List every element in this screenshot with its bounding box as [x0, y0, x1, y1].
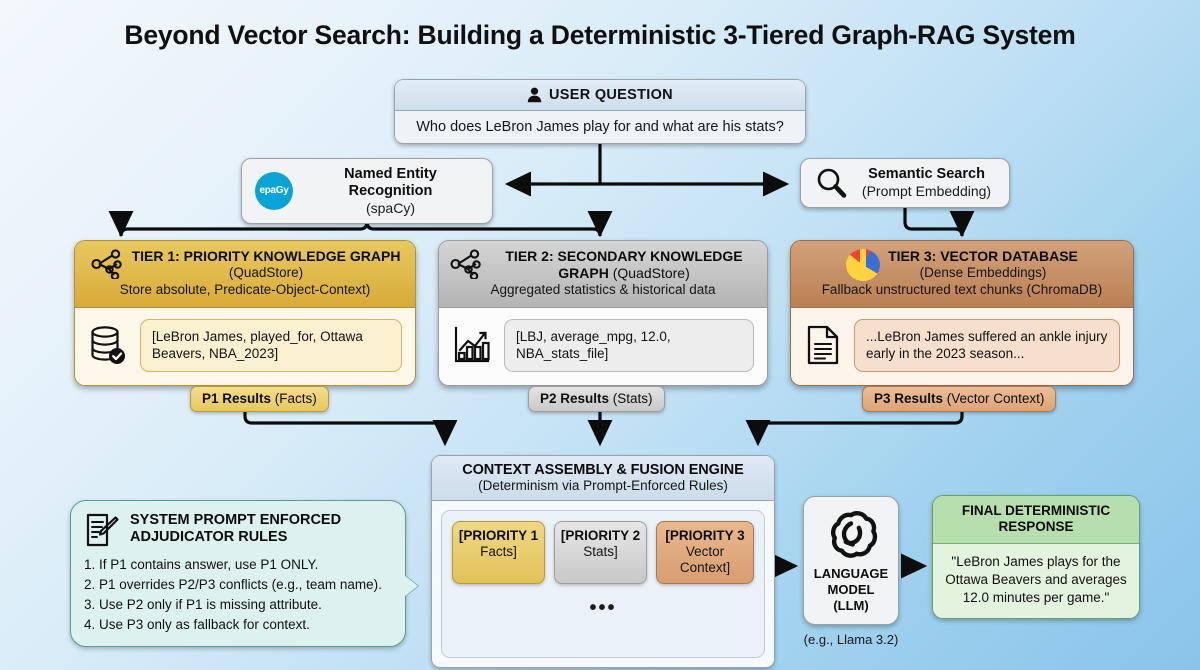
semantic-search-title: Semantic Search [857, 166, 996, 183]
p1-results-badge: P1 Results (Facts) [190, 386, 329, 412]
fusion-priority-stack: [PRIORITY 1 Facts] [PRIORITY 2 Stats] [P… [441, 510, 765, 658]
p2-badge-bold: P2 Results [540, 391, 609, 406]
tier-1-head-line2: (QuadStore) [132, 265, 401, 281]
tier-3-card: TIER 3: VECTOR DATABASE (Dense Embedding… [790, 240, 1134, 386]
adjudicator-rule: 3. Use P2 only if P1 is missing attribut… [84, 595, 392, 615]
database-check-icon [88, 324, 128, 366]
fusion-engine-subtitle: (Determinism via Prompt-Enforced Rules) [440, 478, 766, 493]
user-question-text: Who does LeBron James play for and what … [395, 111, 805, 143]
priority-2-line1: [PRIORITY 2 [559, 528, 642, 544]
document-lines-icon [804, 324, 842, 366]
adjudicator-rule: 2. P1 overrides P2/P3 conflicts (e.g., t… [84, 575, 392, 595]
adjudicator-header-line2: ADJUDICATOR RULES [130, 529, 341, 546]
graph-nodes-icon [90, 249, 124, 279]
p1-badge-bold: P1 Results [202, 391, 271, 406]
tier-3-chip: ...LeBron James suffered an ankle injury… [854, 319, 1120, 372]
tier-2-card: TIER 2: SECONDARY KNOWLEDGE GRAPH (QuadS… [438, 240, 768, 386]
final-response-text: "LeBron James plays for the Ottawa Beave… [933, 544, 1139, 617]
ner-node: epaGy Named Entity Recognition (spaCy) [241, 158, 493, 224]
tier-3-header: TIER 3: VECTOR DATABASE (Dense Embedding… [791, 241, 1133, 308]
priority-1-line1: [PRIORITY 1 [457, 528, 540, 544]
tier-2-header: TIER 2: SECONDARY KNOWLEDGE GRAPH (QuadS… [439, 241, 767, 308]
language-model-node: LANGUAGE MODEL (LLM) (e.g., Llama 3.2) [803, 496, 899, 647]
user-question-header: USER QUESTION [395, 80, 805, 111]
adjudicator-rules-list: 1. If P1 contains answer, use P1 ONLY. 2… [84, 555, 392, 634]
priority-2-box: [PRIORITY 2 Stats] [554, 521, 647, 584]
p3-badge-bold: P3 Results [874, 391, 943, 406]
semantic-search-node: Semantic Search (Prompt Embedding) [800, 158, 1010, 208]
spacy-logo-icon: epaGy [255, 172, 293, 210]
priority-2-line2: Stats] [559, 544, 642, 560]
p2-badge-normal: (Stats) [609, 391, 653, 406]
priority-3-box: [PRIORITY 3 Vector Context] [656, 521, 754, 584]
magnifier-icon [814, 166, 848, 200]
priority-1-line2: Facts] [457, 544, 540, 560]
llm-caption: (e.g., Llama 3.2) [803, 632, 899, 647]
page-title: Beyond Vector Search: Building a Determi… [0, 20, 1200, 51]
semantic-search-subtitle: (Prompt Embedding) [857, 183, 996, 199]
chromadb-logo-icon [846, 249, 880, 281]
diagram-canvas: Beyond Vector Search: Building a Determi… [0, 0, 1200, 670]
bar-chart-trend-icon [452, 324, 492, 366]
graph-nodes-icon [449, 249, 483, 279]
p1-badge-normal: (Facts) [271, 391, 317, 406]
p3-results-badge: P3 Results (Vector Context) [862, 386, 1056, 412]
tier-3-head-line2: (Dense Embeddings) [888, 265, 1078, 281]
note-pencil-icon [84, 512, 120, 548]
final-response-card: FINAL DETERMINISTIC RESPONSE "LeBron Jam… [932, 495, 1140, 619]
fusion-ellipsis: ••• [452, 584, 754, 651]
tier-2-chip: [LBJ, average_mpg, 12.0, NBA_stats_file] [504, 319, 754, 372]
tier-1-header: TIER 1: PRIORITY KNOWLEDGE GRAPH (QuadSt… [75, 241, 415, 308]
user-question-title: USER QUESTION [549, 87, 673, 103]
tier-2-head-normal: (QuadStore) [609, 265, 690, 281]
ner-title: Named Entity Recognition [302, 166, 479, 200]
llm-line1: LANGUAGE [808, 566, 894, 582]
openai-knot-icon [823, 506, 879, 562]
tier-1-head-bold: TIER 1: PRIORITY KNOWLEDGE GRAPH [132, 248, 401, 264]
p3-badge-normal: (Vector Context) [943, 391, 1044, 406]
fusion-engine-title: CONTEXT ASSEMBLY & FUSION ENGINE [440, 462, 766, 478]
callout-tail [404, 575, 418, 597]
tier-2-head-line3: Aggregated statistics & historical data [449, 282, 757, 299]
p2-results-badge: P2 Results (Stats) [528, 386, 665, 412]
final-response-header-line1: FINAL DETERMINISTIC [939, 503, 1133, 519]
tier-1-head-line3: Store absolute, Predicate-Object-Context… [85, 282, 405, 299]
adjudicator-rule: 4. Use P3 only as fallback for context. [84, 615, 392, 635]
tier-1-chip: [LeBron James, played_for, Ottawa Beaver… [140, 319, 402, 372]
priority-3-line1: [PRIORITY 3 [661, 528, 749, 544]
ner-subtitle: (spaCy) [302, 200, 479, 216]
user-question-card: USER QUESTION Who does LeBron James play… [394, 79, 806, 144]
person-icon [527, 87, 542, 103]
tier-3-head-line3: Fallback unstructured text chunks (Chrom… [801, 282, 1123, 299]
tier-1-card: TIER 1: PRIORITY KNOWLEDGE GRAPH (QuadSt… [74, 240, 416, 386]
final-response-header: FINAL DETERMINISTIC RESPONSE [933, 496, 1139, 544]
llm-line2: MODEL [808, 582, 894, 598]
tier-3-head-bold: TIER 3: VECTOR DATABASE [888, 248, 1078, 264]
spacy-logo-text: epaGy [259, 185, 288, 196]
fusion-engine-card: CONTEXT ASSEMBLY & FUSION ENGINE (Determ… [431, 455, 775, 668]
final-response-header-line2: RESPONSE [939, 519, 1133, 535]
fusion-engine-header: CONTEXT ASSEMBLY & FUSION ENGINE (Determ… [432, 456, 774, 501]
priority-1-box: [PRIORITY 1 Facts] [452, 521, 545, 584]
adjudicator-header-line1: SYSTEM PROMPT ENFORCED [130, 512, 341, 529]
adjudicator-rule: 1. If P1 contains answer, use P1 ONLY. [84, 555, 392, 575]
llm-line3: (LLM) [808, 598, 894, 614]
priority-3-line2: Vector Context] [661, 544, 749, 576]
adjudicator-rules-callout: SYSTEM PROMPT ENFORCED ADJUDICATOR RULES… [70, 500, 406, 647]
